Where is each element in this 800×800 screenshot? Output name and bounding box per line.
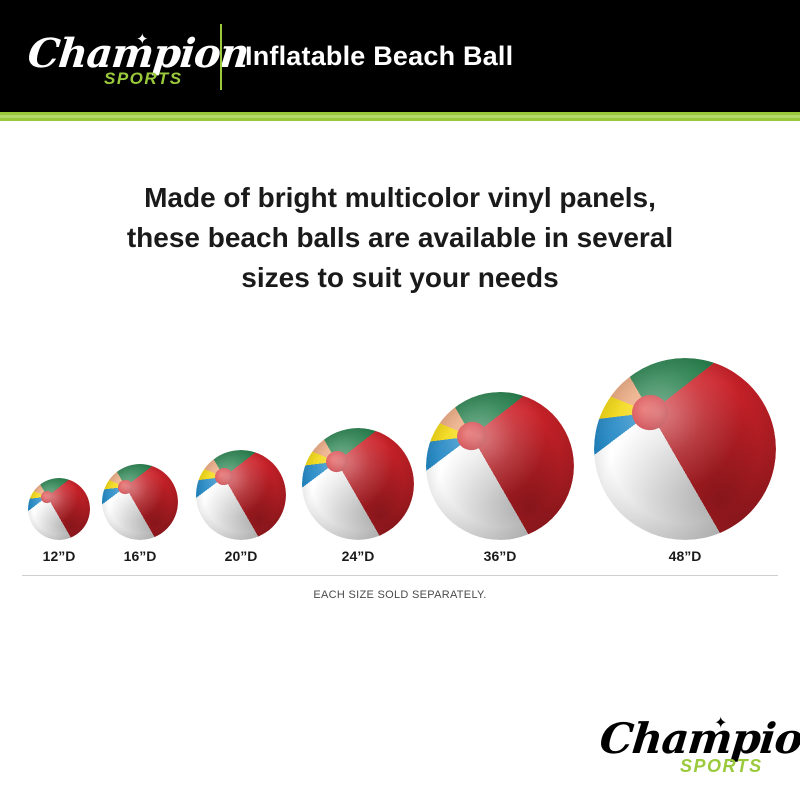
beach-ball-graphic xyxy=(426,392,574,540)
beach-ball-item[interactable]: 24”D xyxy=(302,428,414,540)
headline-line-2: these beach balls are available in sever… xyxy=(60,218,740,258)
beach-ball-graphic xyxy=(28,478,90,540)
beach-ball-graphic xyxy=(302,428,414,540)
page-header: Champion ✦ SPORTS Inflatable Beach Ball xyxy=(0,0,800,112)
sold-separately-note: EACH SIZE SOLD SEPARATELY. xyxy=(0,589,800,601)
brand-sub-text: SPORTS xyxy=(104,69,183,89)
beach-ball-shading xyxy=(28,478,90,540)
header-divider xyxy=(220,24,222,90)
accent-bar xyxy=(0,112,800,121)
beach-ball-graphic xyxy=(196,450,286,540)
beach-ball-shading xyxy=(302,428,414,540)
beach-ball-shading xyxy=(102,464,178,540)
beach-ball-shading xyxy=(594,358,776,540)
footer-brand-sub-text: SPORTS xyxy=(680,756,763,777)
headline: Made of bright multicolor vinyl panels, … xyxy=(60,178,740,298)
size-comparison-row: 12”D16”D20”D24”D36”D48”D xyxy=(0,330,800,540)
beach-ball-size-label: 16”D xyxy=(102,548,178,564)
footer-star-icon: ✦ xyxy=(714,716,727,732)
beach-ball-size-label: 48”D xyxy=(594,548,776,564)
beach-ball-graphic xyxy=(594,358,776,540)
beach-ball-shading xyxy=(196,450,286,540)
beach-ball-item[interactable]: 48”D xyxy=(594,358,776,540)
beach-ball-item[interactable]: 16”D xyxy=(102,464,178,540)
beach-ball-size-label: 12”D xyxy=(28,548,90,564)
beach-ball-size-label: 36”D xyxy=(426,548,574,564)
page-title: Inflatable Beach Ball xyxy=(245,0,513,112)
accent-bar-highlight xyxy=(0,115,800,118)
beach-ball-size-label: 24”D xyxy=(302,548,414,564)
star-icon: ✦ xyxy=(136,32,149,47)
brand-logo-header: Champion ✦ SPORTS xyxy=(28,26,200,88)
beach-ball-item[interactable]: 36”D xyxy=(426,392,574,540)
note-divider xyxy=(22,575,778,576)
headline-line-3: sizes to suit your needs xyxy=(60,258,740,298)
beach-ball-shading xyxy=(426,392,574,540)
beach-ball-graphic xyxy=(102,464,178,540)
beach-ball-item[interactable]: 12”D xyxy=(28,478,90,540)
headline-line-1: Made of bright multicolor vinyl panels, xyxy=(60,178,740,218)
beach-ball-item[interactable]: 20”D xyxy=(196,450,286,540)
beach-ball-size-label: 20”D xyxy=(196,548,286,564)
brand-logo-footer: Champion ✦ SPORTS xyxy=(600,712,780,778)
